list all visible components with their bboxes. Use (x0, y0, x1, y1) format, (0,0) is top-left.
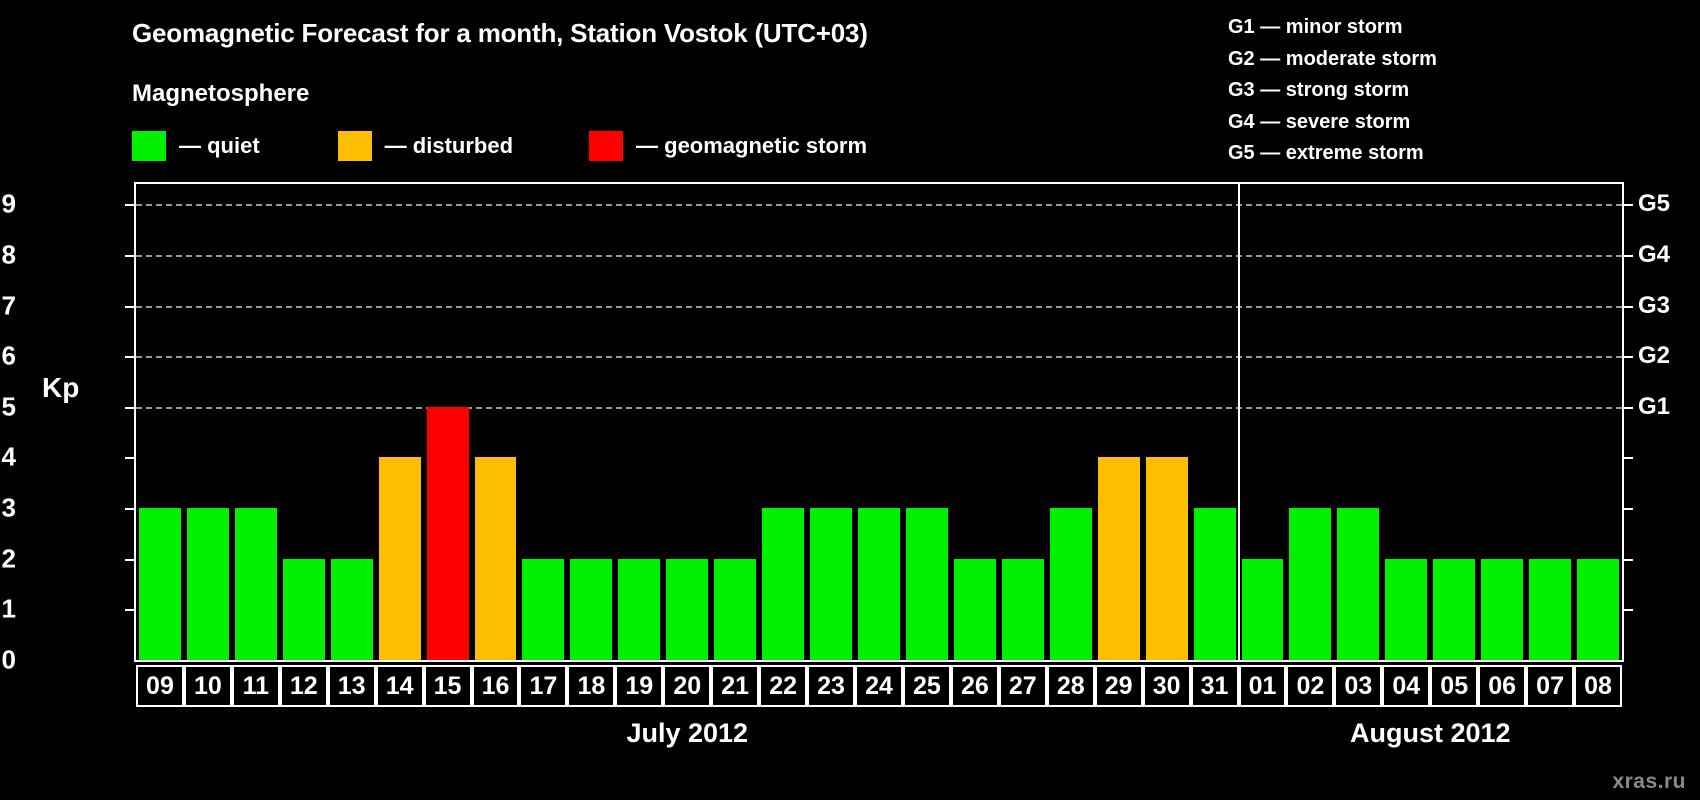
y-tick (125, 255, 136, 257)
day-label[interactable]: 11 (232, 665, 280, 707)
y-tick-right (1622, 609, 1633, 611)
legend-label-quiet: — quiet (179, 133, 260, 159)
y-axis-tick-label: 2 (2, 543, 16, 574)
storm-scale-legend: G1 — minor storm G2 — moderate storm G3 … (1228, 12, 1437, 170)
legend-item-storm: — geomagnetic storm (589, 131, 867, 161)
y-tick (125, 559, 136, 561)
y-tick-right (1622, 255, 1633, 257)
y-tick-right (1622, 407, 1633, 409)
y-tick-right (1622, 508, 1633, 510)
day-label[interactable]: 23 (807, 665, 855, 707)
month-divider (1238, 184, 1240, 660)
y-tick (125, 508, 136, 510)
day-label[interactable]: 10 (184, 665, 232, 707)
y-tick (125, 609, 136, 611)
g-scale-label: G3 (1638, 292, 1670, 320)
legend-swatch-quiet (132, 131, 166, 161)
month-divider-layer (136, 184, 1622, 660)
day-label[interactable]: 17 (519, 665, 567, 707)
g-scale-label: G4 (1638, 241, 1670, 269)
chart-canvas: Geomagnetic Forecast for a month, Statio… (0, 0, 1700, 800)
legend-swatch-disturbed (338, 131, 372, 161)
y-tick (125, 407, 136, 409)
day-label[interactable]: 28 (1047, 665, 1095, 707)
day-label[interactable]: 08 (1574, 665, 1622, 707)
day-label[interactable]: 24 (855, 665, 903, 707)
day-label[interactable]: 13 (328, 665, 376, 707)
y-axis-tick-label: 4 (2, 442, 16, 473)
y-tick-right (1622, 204, 1633, 206)
day-label[interactable]: 27 (999, 665, 1047, 707)
y-axis-tick-label: 8 (2, 239, 16, 270)
y-axis-caption: Kp (42, 372, 79, 404)
storm-scale-g4: G4 — severe storm (1228, 107, 1437, 139)
day-label[interactable]: 25 (903, 665, 951, 707)
y-tick (125, 204, 136, 206)
month-caption: August 2012 (1350, 718, 1511, 749)
y-tick (125, 457, 136, 459)
day-label[interactable]: 03 (1334, 665, 1382, 707)
legend-label-storm: — geomagnetic storm (636, 133, 867, 159)
storm-scale-g3: G3 — strong storm (1228, 75, 1437, 107)
day-label[interactable]: 31 (1191, 665, 1239, 707)
legend-swatch-storm (589, 131, 623, 161)
color-legend: — quiet — disturbed — geomagnetic storm (132, 129, 867, 163)
y-tick (125, 306, 136, 308)
y-tick-right (1622, 306, 1633, 308)
y-tick-right (1622, 356, 1633, 358)
g-scale-label: G1 (1638, 393, 1670, 421)
day-label[interactable]: 09 (136, 665, 184, 707)
day-label[interactable]: 21 (711, 665, 759, 707)
day-label[interactable]: 02 (1286, 665, 1334, 707)
magnetosphere-label: Magnetosphere (132, 80, 309, 108)
day-label[interactable]: 26 (951, 665, 999, 707)
day-label[interactable]: 07 (1526, 665, 1574, 707)
g-scale-label: G2 (1638, 342, 1670, 370)
day-label[interactable]: 30 (1143, 665, 1191, 707)
page-title: Geomagnetic Forecast for a month, Statio… (132, 18, 868, 49)
day-label[interactable]: 01 (1239, 665, 1287, 707)
day-label[interactable]: 14 (376, 665, 424, 707)
y-tick-right (1622, 457, 1633, 459)
y-axis-tick-label: 3 (2, 493, 16, 524)
day-axis: 0910111213141516171819202122232425262728… (134, 665, 1624, 707)
day-label[interactable]: 05 (1430, 665, 1478, 707)
day-label[interactable]: 15 (424, 665, 472, 707)
day-label[interactable]: 18 (567, 665, 615, 707)
storm-scale-g5: G5 — extreme storm (1228, 138, 1437, 170)
legend-item-quiet: — quiet (132, 131, 260, 161)
day-label[interactable]: 20 (663, 665, 711, 707)
y-tick (125, 356, 136, 358)
legend-label-disturbed: — disturbed (385, 133, 513, 159)
y-axis-tick-label: 6 (2, 341, 16, 372)
g-scale-label: G5 (1638, 190, 1670, 218)
y-axis-tick-label: 9 (2, 189, 16, 220)
plot-area (134, 182, 1624, 662)
watermark: xras.ru (1612, 770, 1686, 794)
legend-item-disturbed: — disturbed (338, 131, 513, 161)
day-label[interactable]: 04 (1382, 665, 1430, 707)
y-axis-tick-label: 1 (2, 594, 16, 625)
storm-scale-g2: G2 — moderate storm (1228, 44, 1437, 76)
day-label[interactable]: 16 (472, 665, 520, 707)
y-axis-tick-label: 0 (2, 645, 16, 676)
day-label[interactable]: 06 (1478, 665, 1526, 707)
month-caption: July 2012 (626, 718, 748, 749)
day-label[interactable]: 22 (759, 665, 807, 707)
day-label[interactable]: 29 (1095, 665, 1143, 707)
day-label[interactable]: 12 (280, 665, 328, 707)
day-label[interactable]: 19 (615, 665, 663, 707)
y-tick-right (1622, 559, 1633, 561)
y-axis-tick-label: 5 (2, 391, 16, 422)
storm-scale-g1: G1 — minor storm (1228, 12, 1437, 44)
y-axis-tick-label: 7 (2, 290, 16, 321)
